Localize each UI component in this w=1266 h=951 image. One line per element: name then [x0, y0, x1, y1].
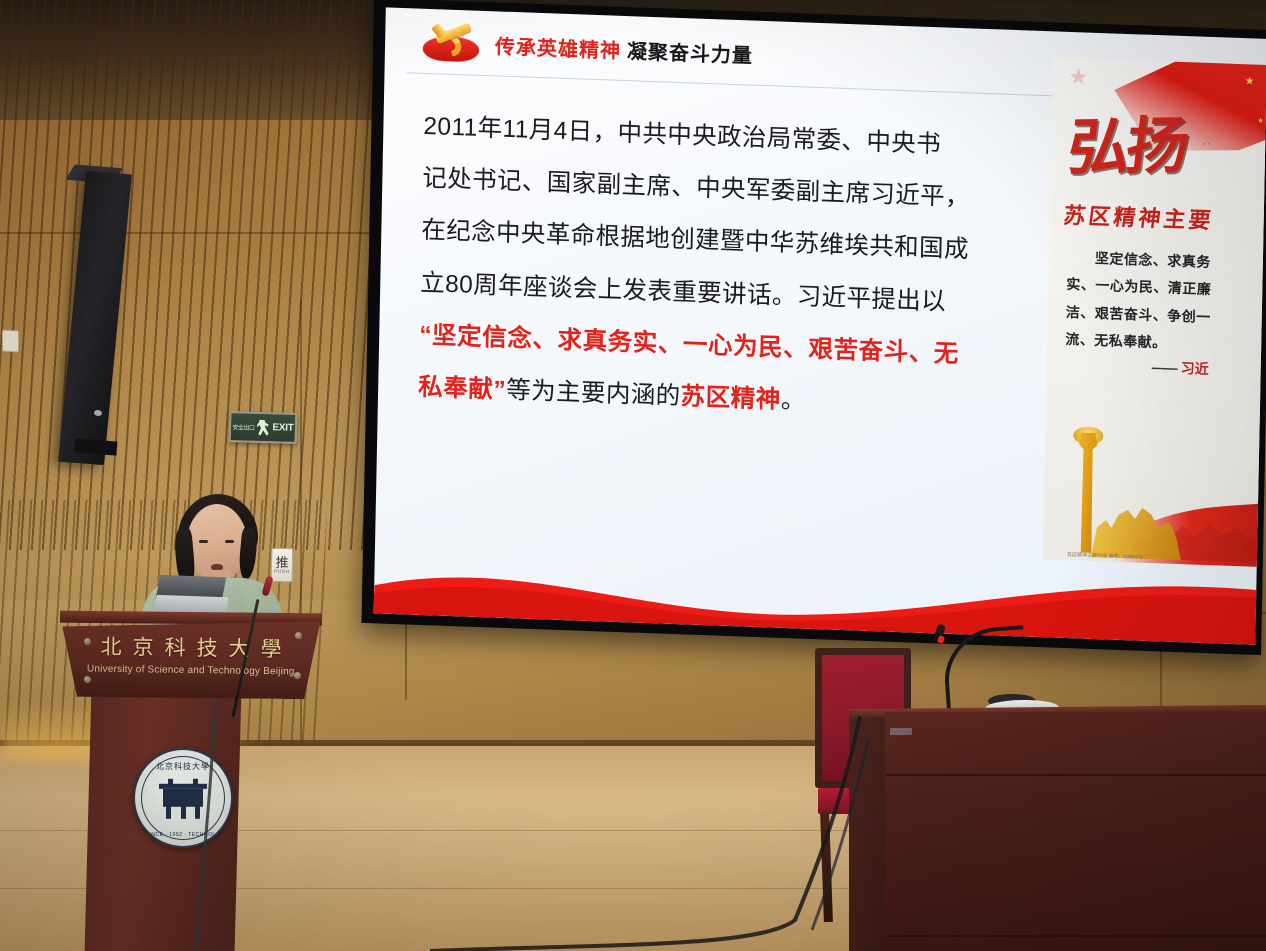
lecture-hall-photo: 安全出口 EXIT 推 PUSH 传承英雄精神 凝聚奋斗力量: [0, 0, 1266, 951]
photo-vignette: [0, 0, 1266, 951]
